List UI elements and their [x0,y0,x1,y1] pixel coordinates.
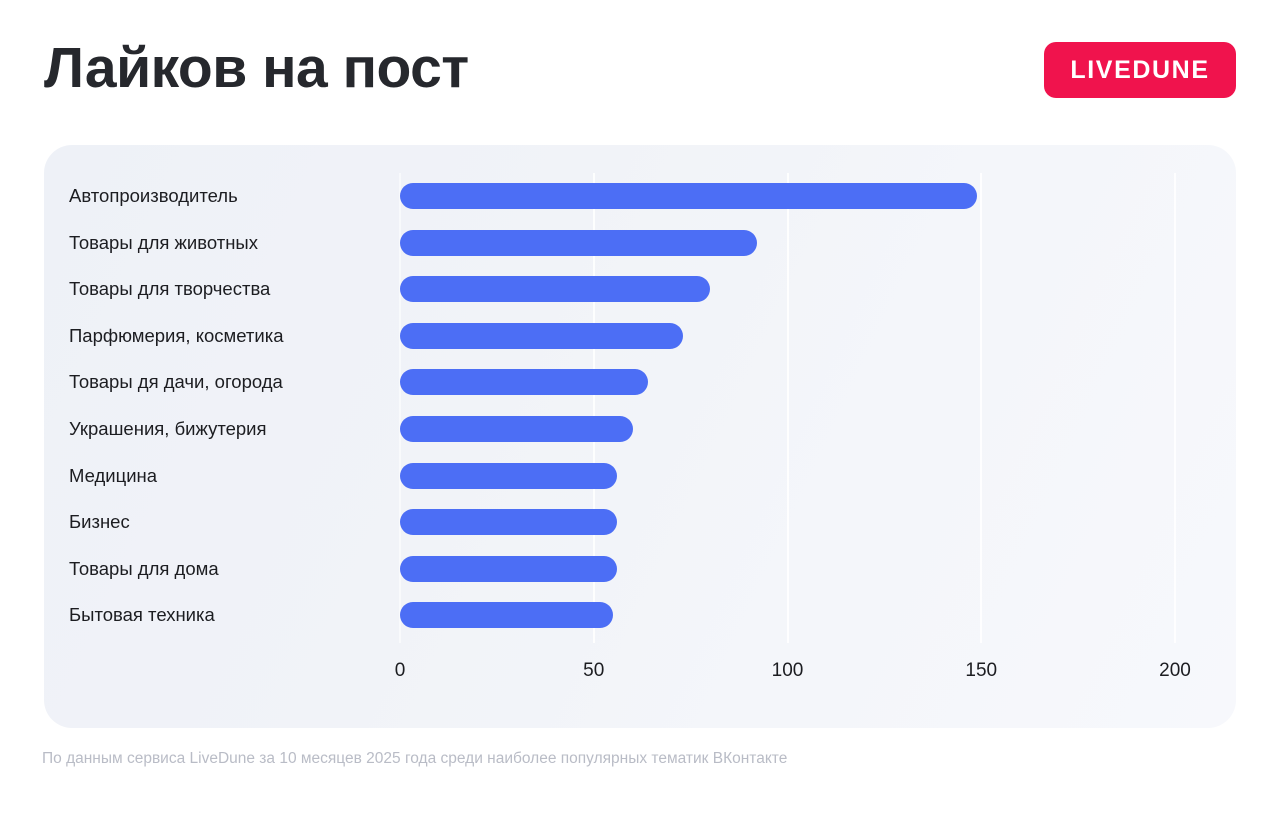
infographic-page: Лайков на пост LIVEDUNE Автопроизводител… [0,0,1280,814]
page-title: Лайков на пост [44,33,469,103]
bar-1 [400,230,757,256]
bar-3 [400,323,683,349]
bar-8 [400,556,617,582]
chart-row: Товары дя дачи, огорода [44,359,1236,405]
category-label: Бытовая техника [69,604,215,626]
brand-name-label: LIVEDUNE [1070,58,1209,83]
chart-row: Автопроизводитель [44,173,1236,219]
livedune-logo-badge: LIVEDUNE [1044,42,1236,98]
category-label: Бизнес [69,511,130,533]
category-label: Парфюмерия, косметика [69,325,284,347]
x-axis-tick-50: 50 [583,659,604,683]
bar-5 [400,416,633,442]
chart-row: Бизнес [44,499,1236,545]
bar-6 [400,463,617,489]
bar-2 [400,276,710,302]
x-axis-tick-200: 200 [1159,659,1191,683]
chart-row: Украшения, бижутерия [44,406,1236,452]
chart-row: Товары для творчества [44,266,1236,312]
bar-7 [400,509,617,535]
category-label: Медицина [69,465,157,487]
header: Лайков на пост LIVEDUNE [0,0,1280,144]
x-axis-tick-150: 150 [965,659,997,683]
bar-9 [400,602,613,628]
bar-chart-plot-area: АвтопроизводительТовары для животныхТова… [44,145,1236,728]
chart-row: Товары для животных [44,220,1236,266]
bar-0 [400,183,977,209]
category-label: Автопроизводитель [69,185,238,207]
x-axis-tick-0: 0 [395,659,406,683]
category-label: Товары для дома [69,558,219,580]
chart-row: Бытовая техника [44,592,1236,638]
chart-card: АвтопроизводительТовары для животныхТова… [44,145,1236,728]
x-axis-tick-100: 100 [772,659,804,683]
chart-row: Парфюмерия, косметика [44,313,1236,359]
category-label: Товары для творчества [69,278,270,300]
category-label: Товары для животных [69,232,258,254]
category-label: Товары дя дачи, огорода [69,371,283,393]
category-label: Украшения, бижутерия [69,418,267,440]
chart-row: Товары для дома [44,546,1236,592]
bar-4 [400,369,648,395]
chart-row: Медицина [44,453,1236,499]
source-footnote: По данным сервиса LiveDune за 10 месяцев… [42,749,787,769]
